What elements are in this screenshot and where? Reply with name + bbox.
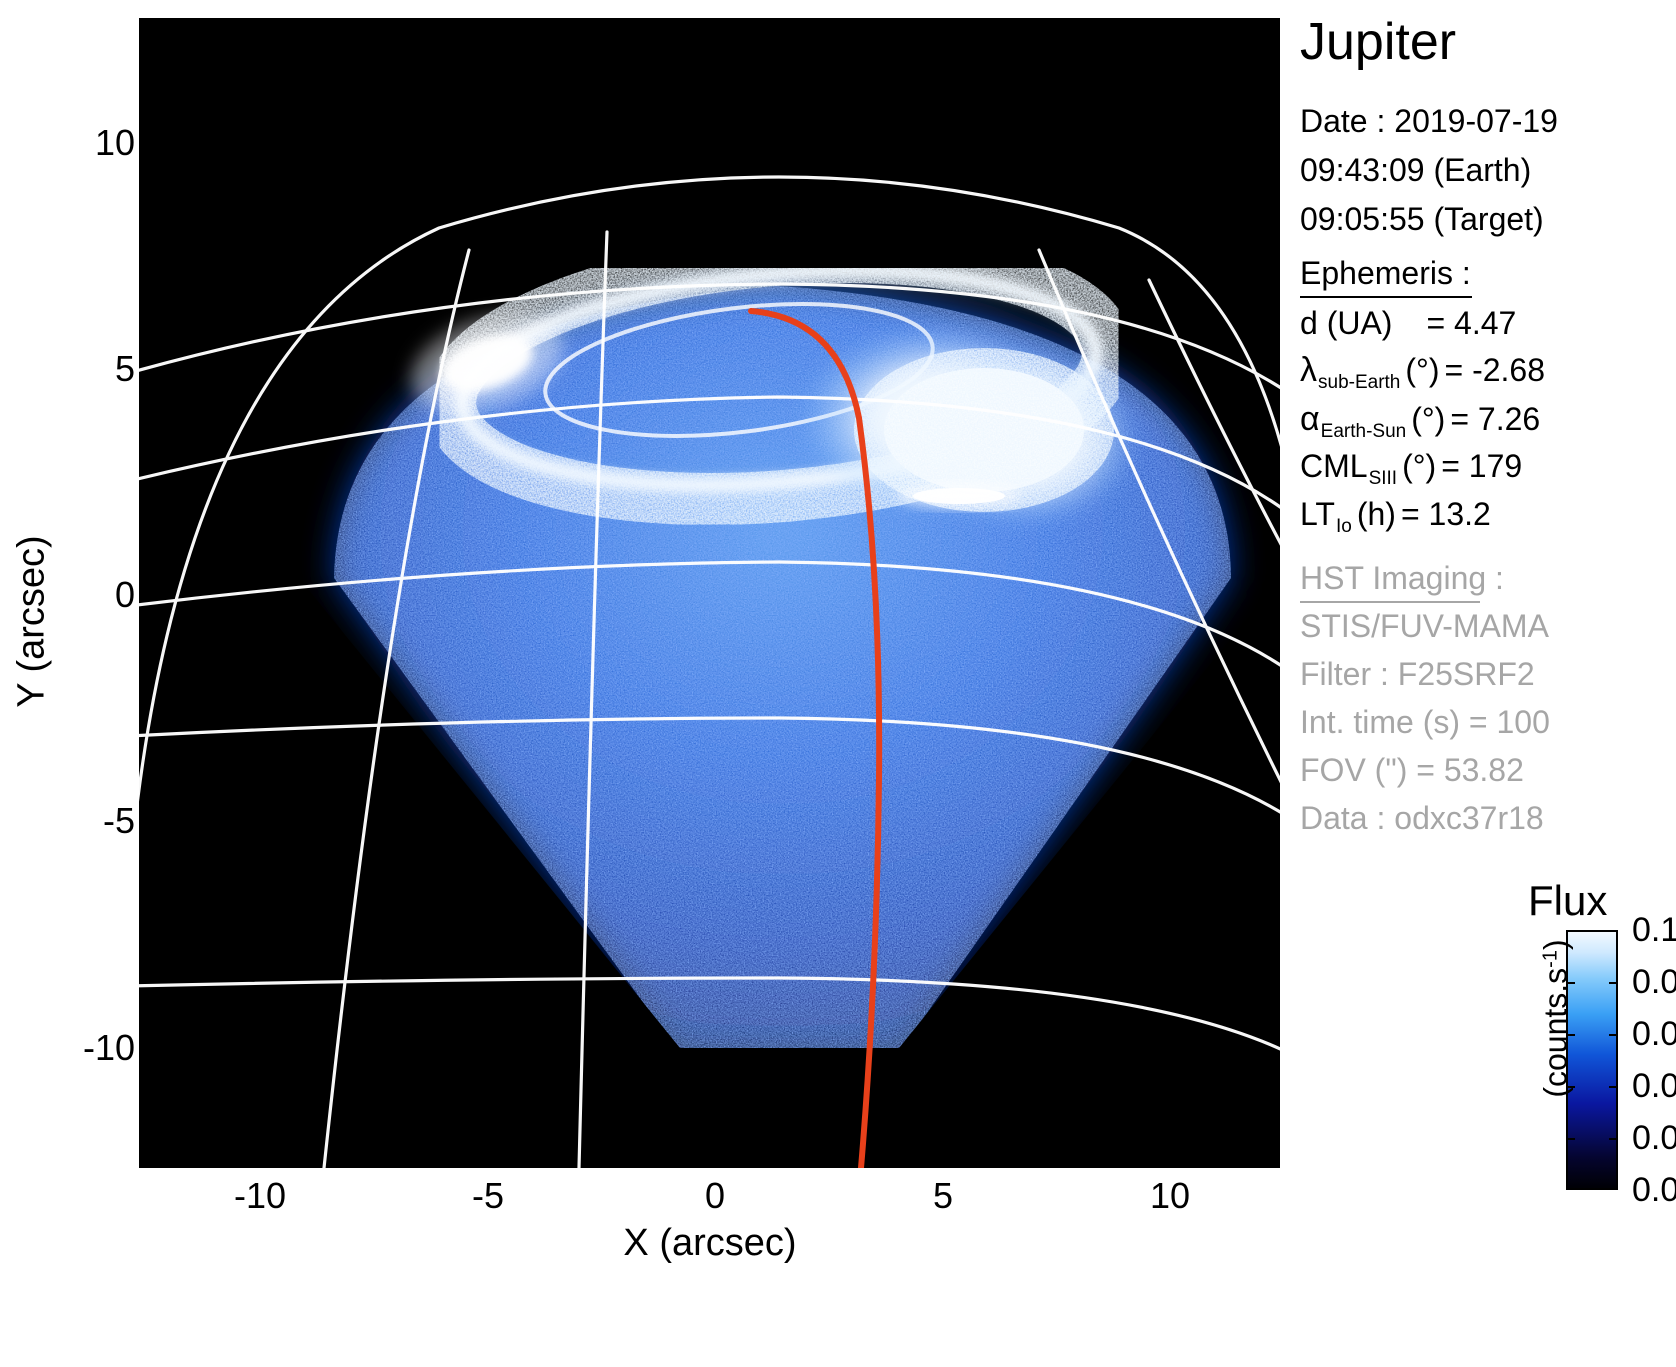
ephemeris-row-io-local-time: LT Io (h) = 13.2 bbox=[1300, 496, 1491, 533]
colorbar-tickmark bbox=[1609, 1086, 1618, 1088]
ephemeris-label: α bbox=[1300, 400, 1320, 439]
hst-imaging-heading: HST Imaging : bbox=[1300, 560, 1504, 597]
observation-time-target: 09:05:55 (Target) bbox=[1300, 201, 1544, 238]
hst-fov: FOV (") = 53.82 bbox=[1300, 752, 1524, 789]
ephemeris-label: λ bbox=[1300, 351, 1317, 390]
aurora-image-plot bbox=[139, 18, 1280, 1168]
colorbar-tickmark bbox=[1609, 1138, 1618, 1140]
ephemeris-subscript: sub-Earth bbox=[1317, 372, 1400, 394]
hst-dataset-id: Data : odxc37r18 bbox=[1300, 800, 1544, 837]
hst-imaging-underline bbox=[1300, 601, 1480, 603]
ephemeris-subscript: Io bbox=[1335, 516, 1352, 538]
plot-canvas bbox=[139, 18, 1280, 1168]
ephemeris-row-distance: d (UA) = 4.47 bbox=[1300, 305, 1516, 342]
y-axis-title: Y (arcsec) bbox=[11, 472, 54, 772]
x-tick-m5: -5 bbox=[428, 1175, 548, 1217]
colorbar-tick-0.02: 0.02 bbox=[1632, 1119, 1676, 1158]
ephemeris-unit: (°) bbox=[1406, 401, 1445, 438]
y-tick-5: 5 bbox=[15, 348, 135, 390]
colorbar-tick-0.10: 0.10 bbox=[1632, 911, 1676, 950]
ephemeris-row-phase-angle: α Earth-Sun (°) = 7.26 bbox=[1300, 400, 1540, 439]
ephemeris-value: = 7.26 bbox=[1445, 401, 1540, 438]
colorbar-tickmark bbox=[1609, 1034, 1618, 1036]
ephemeris-value: = 13.2 bbox=[1396, 496, 1491, 533]
colorbar-units-main: (counts.s bbox=[1538, 968, 1574, 1098]
observation-date: Date : 2019-07-19 bbox=[1300, 103, 1558, 140]
ephemeris-heading: Ephemeris : bbox=[1300, 255, 1471, 292]
y-tick-10: 10 bbox=[15, 122, 135, 164]
ephemeris-underline bbox=[1300, 296, 1472, 298]
x-tick-0: 0 bbox=[655, 1175, 775, 1217]
hst-integration-time: Int. time (s) = 100 bbox=[1300, 704, 1550, 741]
ephemeris-label: LT bbox=[1300, 496, 1335, 533]
colorbar-tick-0.04: 0.04 bbox=[1632, 1067, 1676, 1106]
target-title: Jupiter bbox=[1300, 12, 1456, 72]
bright-streak-feature bbox=[897, 482, 1021, 510]
ephemeris-label: d (UA) bbox=[1300, 305, 1392, 342]
colorbar-axis-title: (counts.s-1) bbox=[1538, 869, 1575, 1169]
observation-time-earth: 09:43:09 (Earth) bbox=[1300, 152, 1531, 189]
colorbar-units-exponent: -1 bbox=[1540, 950, 1562, 968]
ephemeris-row-sub-earth-lat: λ sub-Earth (°) = -2.68 bbox=[1300, 351, 1545, 390]
colorbar-tick-0.06: 0.06 bbox=[1632, 1015, 1676, 1054]
ephemeris-unit: (h) bbox=[1352, 496, 1396, 533]
ephemeris-value: = 4.47 bbox=[1392, 305, 1516, 342]
ephemeris-value: = 179 bbox=[1436, 448, 1522, 485]
hst-instrument: STIS/FUV-MAMA bbox=[1300, 608, 1549, 645]
colorbar-tick-0.08: 0.08 bbox=[1632, 963, 1676, 1002]
x-tick-10: 10 bbox=[1110, 1175, 1230, 1217]
x-tick-5: 5 bbox=[883, 1175, 1003, 1217]
colorbar-units-close: ) bbox=[1538, 939, 1574, 950]
y-tick-m5: -5 bbox=[15, 800, 135, 842]
y-tick-m10: -10 bbox=[15, 1027, 135, 1069]
colorbar-tickmark bbox=[1609, 982, 1618, 984]
ephemeris-subscript: SIII bbox=[1368, 468, 1398, 490]
x-axis-title: X (arcsec) bbox=[520, 1222, 900, 1265]
x-tick-m10: -10 bbox=[200, 1175, 320, 1217]
hst-filter: Filter : F25SRF2 bbox=[1300, 656, 1535, 693]
ephemeris-unit: (°) bbox=[1397, 448, 1436, 485]
info-panel: Jupiter Date : 2019-07-19 09:43:09 (Eart… bbox=[1296, 0, 1676, 1367]
ephemeris-value: = -2.68 bbox=[1439, 352, 1545, 389]
ephemeris-label: CML bbox=[1300, 448, 1368, 485]
ephemeris-unit: (°) bbox=[1400, 352, 1439, 389]
colorbar-tick-0.00: 0.00 bbox=[1632, 1171, 1676, 1210]
ephemeris-row-cml: CML SIII (°) = 179 bbox=[1300, 448, 1522, 485]
ephemeris-subscript: Earth-Sun bbox=[1320, 421, 1407, 443]
